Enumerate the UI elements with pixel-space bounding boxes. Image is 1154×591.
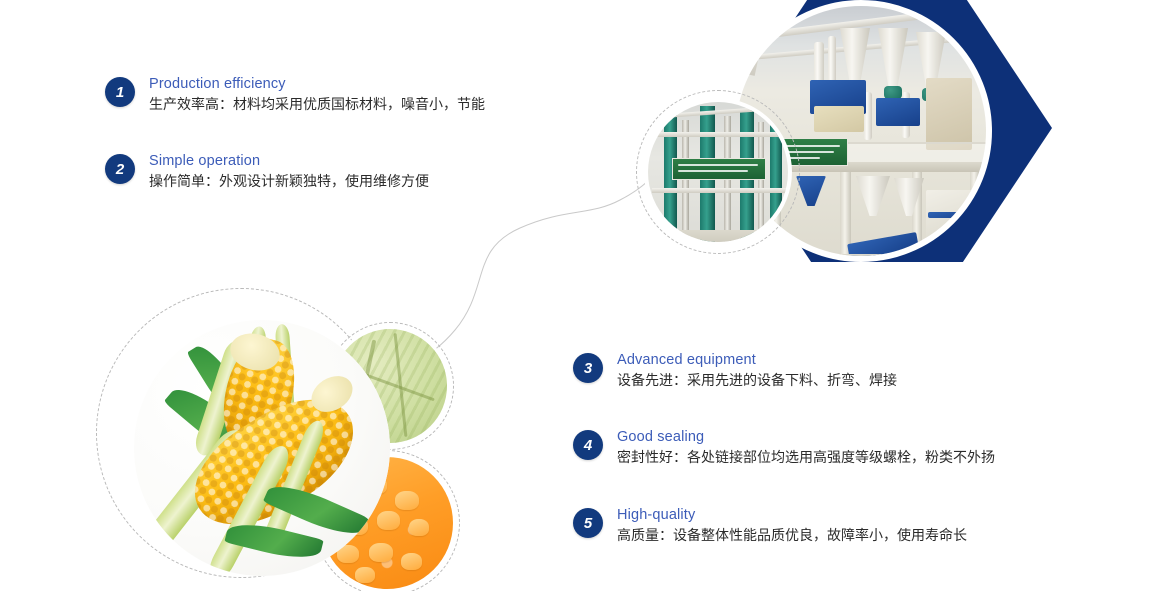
feature-badge-5: 5 xyxy=(573,508,603,538)
factory-inset-photo xyxy=(644,98,792,246)
feature-desc-1: 生产效率高：材料均采用优质国标材料，噪音小，节能 xyxy=(149,94,485,116)
feature-item-3[interactable]: 3 Advanced equipment 设备先进：采用先进的设备下料、折弯、焊… xyxy=(573,351,897,392)
feature-title-3: Advanced equipment xyxy=(617,351,897,370)
feature-badge-4: 4 xyxy=(573,430,603,460)
infographic-canvas: 1 Production efficiency 生产效率高：材料均采用优质国标材… xyxy=(0,0,1154,591)
feature-title-1: Production efficiency xyxy=(149,75,485,94)
feature-item-1[interactable]: 1 Production efficiency 生产效率高：材料均采用优质国标材… xyxy=(105,75,485,116)
feature-badge-2: 2 xyxy=(105,154,135,184)
feature-title-5: High-quality xyxy=(617,506,967,525)
feature-title-2: Simple operation xyxy=(149,152,429,171)
feature-desc-2: 操作简单：外观设计新颖独特，使用维修方便 xyxy=(149,171,429,193)
product-photo-cluster xyxy=(92,282,492,591)
feature-desc-4: 密封性好：各处链接部位均选用高强度等级螺栓，粉类不外扬 xyxy=(617,447,995,469)
feature-item-5[interactable]: 5 High-quality 高质量：设备整体性能品质优良，故障率小，使用寿命长 xyxy=(573,506,967,547)
feature-badge-1: 1 xyxy=(105,77,135,107)
hexagon-photo-group xyxy=(686,0,1086,274)
corn-cob-photo xyxy=(134,320,390,576)
feature-badge-3: 3 xyxy=(573,353,603,383)
feature-title-4: Good sealing xyxy=(617,428,995,447)
feature-item-4[interactable]: 4 Good sealing 密封性好：各处链接部位均选用高强度等级螺栓，粉类不… xyxy=(573,428,995,469)
feature-desc-3: 设备先进：采用先进的设备下料、折弯、焊接 xyxy=(617,370,897,392)
feature-desc-5: 高质量：设备整体性能品质优良，故障率小，使用寿命长 xyxy=(617,525,967,547)
feature-item-2[interactable]: 2 Simple operation 操作简单：外观设计新颖独特，使用维修方便 xyxy=(105,152,429,193)
